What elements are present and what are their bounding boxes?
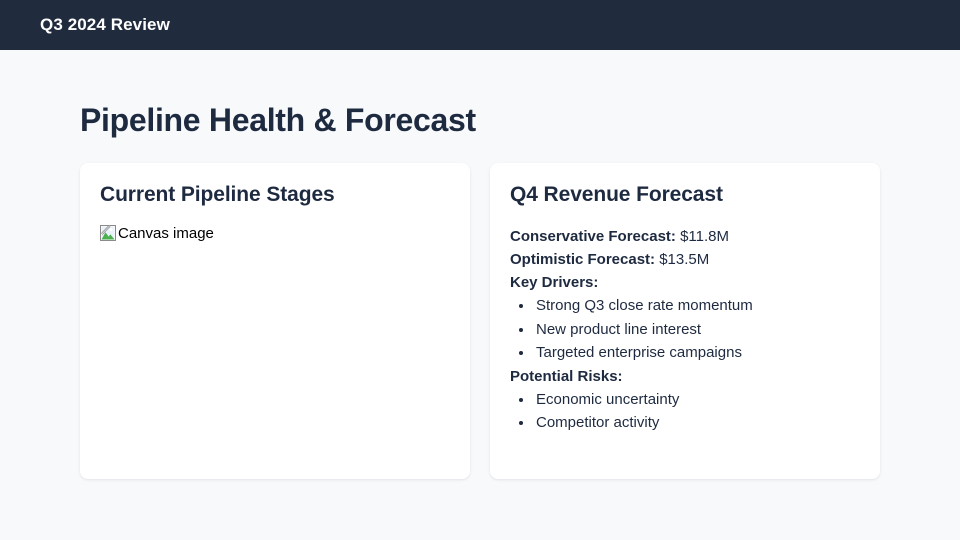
optimistic-forecast-row: Optimistic Forecast: $13.5M (510, 248, 860, 271)
pipeline-chart-alt-text: Canvas image (118, 226, 214, 241)
key-drivers-label: Key Drivers: (510, 271, 860, 294)
list-item: Targeted enterprise campaigns (534, 341, 860, 365)
page-title: Pipeline Health & Forecast (80, 50, 880, 139)
page-content: Pipeline Health & Forecast Current Pipel… (0, 50, 960, 479)
conservative-forecast-label: Conservative Forecast: (510, 228, 676, 245)
conservative-forecast-value: $11.8M (680, 228, 729, 245)
broken-image-icon (100, 225, 116, 241)
app-header-title: Q3 2024 Review (40, 15, 170, 35)
potential-risks-label: Potential Risks: (510, 365, 860, 388)
pipeline-chart-placeholder: Canvas image (100, 225, 450, 241)
potential-risks-list: Economic uncertainty Competitor activity (510, 388, 860, 435)
card-q4-revenue-forecast: Q4 Revenue Forecast Conservative Forecas… (490, 163, 880, 479)
optimistic-forecast-label: Optimistic Forecast: (510, 251, 655, 268)
app-header: Q3 2024 Review (0, 0, 960, 50)
card-current-pipeline-stages: Current Pipeline Stages Canvas image (80, 163, 470, 479)
list-item: Strong Q3 close rate momentum (534, 294, 860, 318)
forecast-body: Conservative Forecast: $11.8M Optimistic… (510, 225, 860, 435)
card-title-pipeline: Current Pipeline Stages (100, 183, 450, 207)
card-title-forecast: Q4 Revenue Forecast (510, 183, 860, 207)
list-item: Competitor activity (534, 411, 860, 435)
key-drivers-list: Strong Q3 close rate momentum New produc… (510, 294, 860, 365)
card-grid: Current Pipeline Stages Canvas image Q4 … (80, 163, 880, 479)
list-item: Economic uncertainty (534, 388, 860, 412)
conservative-forecast-row: Conservative Forecast: $11.8M (510, 225, 860, 248)
optimistic-forecast-value: $13.5M (659, 251, 709, 268)
list-item: New product line interest (534, 318, 860, 342)
